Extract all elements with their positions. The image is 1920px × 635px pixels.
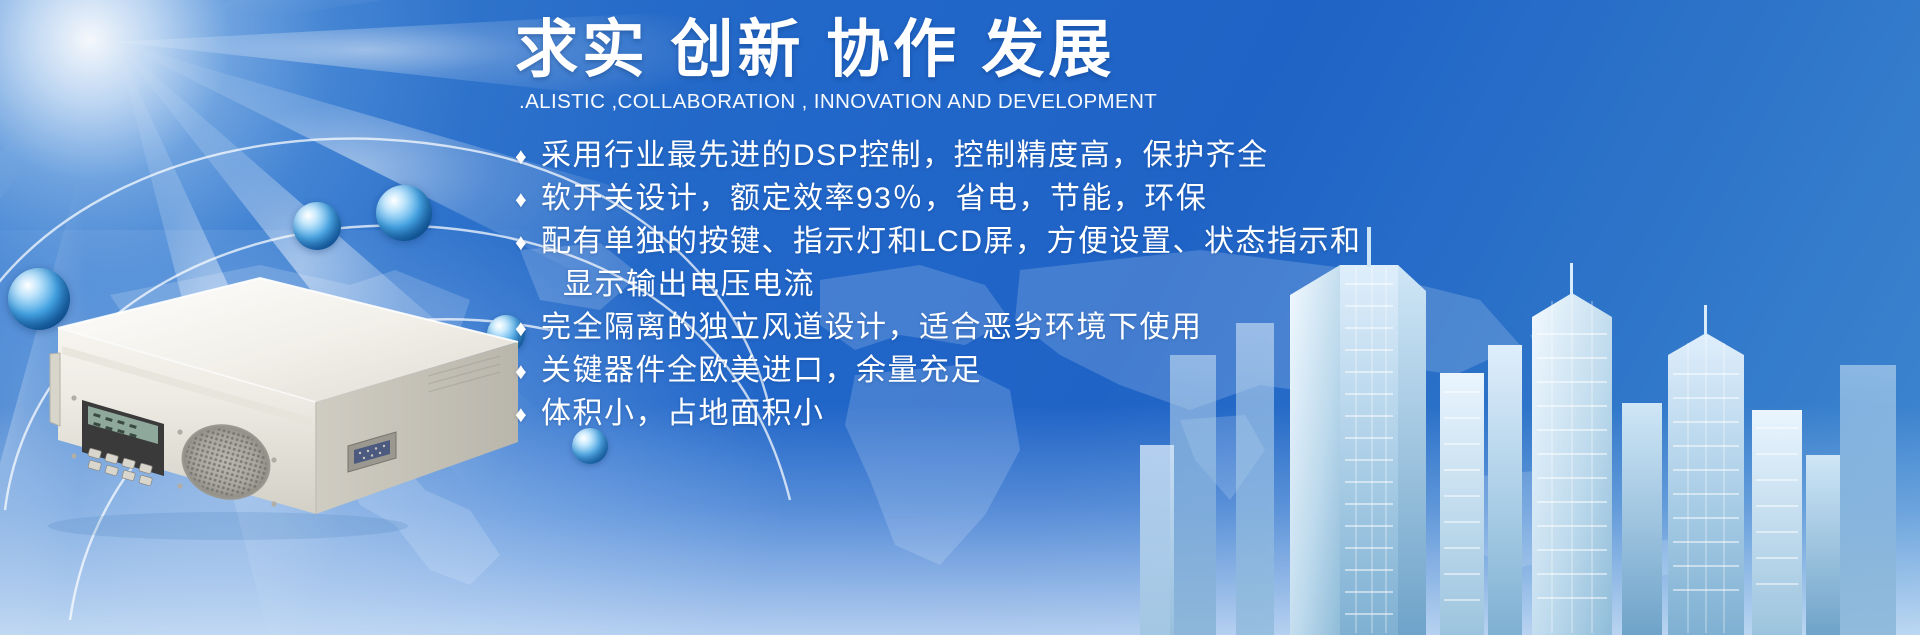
- diamond-bullet-icon: ♦: [515, 394, 541, 434]
- globe-icon-3: [376, 185, 432, 241]
- rack-mount-power-supply: [48, 250, 528, 540]
- list-item: ♦ 采用行业最先进的DSP控制，控制精度高，保护齐全: [515, 136, 1635, 176]
- diamond-bullet-icon: ♦: [515, 351, 541, 391]
- list-item-label: 采用行业最先进的DSP控制，控制精度高，保护齐全: [541, 136, 1635, 176]
- globe-icon-2: [293, 202, 341, 250]
- list-item-label: 配有单独的按键、指示灯和LCD屏，方便设置、状态指示和: [541, 222, 1635, 262]
- banner-content: 求实 创新 协作 发展 .ALISTIC ,COLLABORATION , IN…: [515, 14, 1635, 494]
- list-item-label: 关键器件全欧美进口，余量充足: [541, 351, 1635, 391]
- diamond-bullet-icon: ♦: [515, 179, 541, 219]
- list-item: ♦ 完全隔离的独立风道设计，适合恶劣环境下使用: [515, 308, 1635, 348]
- page-title: 求实 创新 协作 发展: [515, 14, 1635, 86]
- diamond-bullet-icon: ♦: [515, 308, 541, 348]
- list-item-continuation: ♦ 显示输出电压电流: [537, 265, 1635, 305]
- promo-banner: 求实 创新 协作 发展 .ALISTIC ,COLLABORATION , IN…: [0, 0, 1920, 635]
- list-item: ♦ 配有单独的按键、指示灯和LCD屏，方便设置、状态指示和: [515, 222, 1635, 262]
- list-item: ♦ 关键器件全欧美进口，余量充足: [515, 351, 1635, 391]
- feature-list: ♦ 采用行业最先进的DSP控制，控制精度高，保护齐全 ♦ 软开关设计，额定效率9…: [515, 136, 1635, 434]
- list-item-label: 显示输出电压电流: [563, 265, 1635, 305]
- list-item: ♦ 体积小，占地面积小: [515, 394, 1635, 434]
- list-item-label: 软开关设计，额定效率93％，省电，节能，环保: [541, 179, 1635, 219]
- list-item-label: 体积小，占地面积小: [541, 394, 1635, 434]
- list-item-label: 完全隔离的独立风道设计，适合恶劣环境下使用: [541, 308, 1635, 348]
- list-item: ♦ 软开关设计，额定效率93％，省电，节能，环保: [515, 179, 1635, 219]
- diamond-bullet-icon: ♦: [515, 222, 541, 262]
- diamond-bullet-icon: ♦: [515, 136, 541, 176]
- subtitle: .ALISTIC ,COLLABORATION , INNOVATION AND…: [519, 90, 1635, 114]
